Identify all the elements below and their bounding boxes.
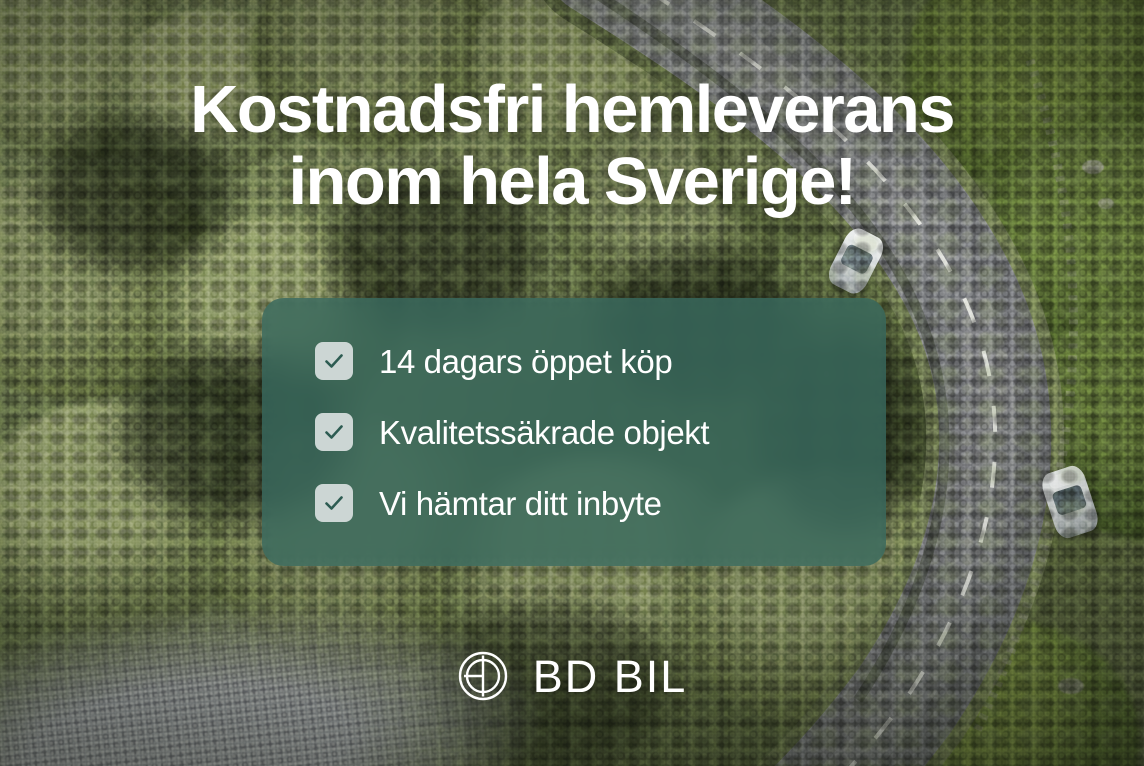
- banner-content: Kostnadsfri hemleverans inom hela Sverig…: [0, 0, 1144, 766]
- brand-logo: BD BIL: [0, 650, 1144, 702]
- checkbox-checked-icon: [315, 342, 353, 380]
- features-card: 14 dagars öppet köp Kvalitetssäkrade obj…: [262, 298, 886, 566]
- feature-item: Vi hämtar ditt inbyte: [315, 484, 886, 522]
- feature-item: 14 dagars öppet köp: [315, 342, 886, 380]
- logo-wordmark: BD BIL: [533, 654, 688, 699]
- feature-item: Kvalitetssäkrade objekt: [315, 413, 886, 451]
- feature-label: 14 dagars öppet köp: [379, 345, 672, 378]
- headline: Kostnadsfri hemleverans inom hela Sverig…: [0, 74, 1144, 219]
- feature-label: Kvalitetssäkrade objekt: [379, 416, 709, 449]
- promo-banner: Kostnadsfri hemleverans inom hela Sverig…: [0, 0, 1144, 766]
- checkbox-checked-icon: [315, 484, 353, 522]
- checkbox-checked-icon: [315, 413, 353, 451]
- bd-bil-circle-monogram-icon: [457, 650, 509, 702]
- feature-label: Vi hämtar ditt inbyte: [379, 487, 662, 520]
